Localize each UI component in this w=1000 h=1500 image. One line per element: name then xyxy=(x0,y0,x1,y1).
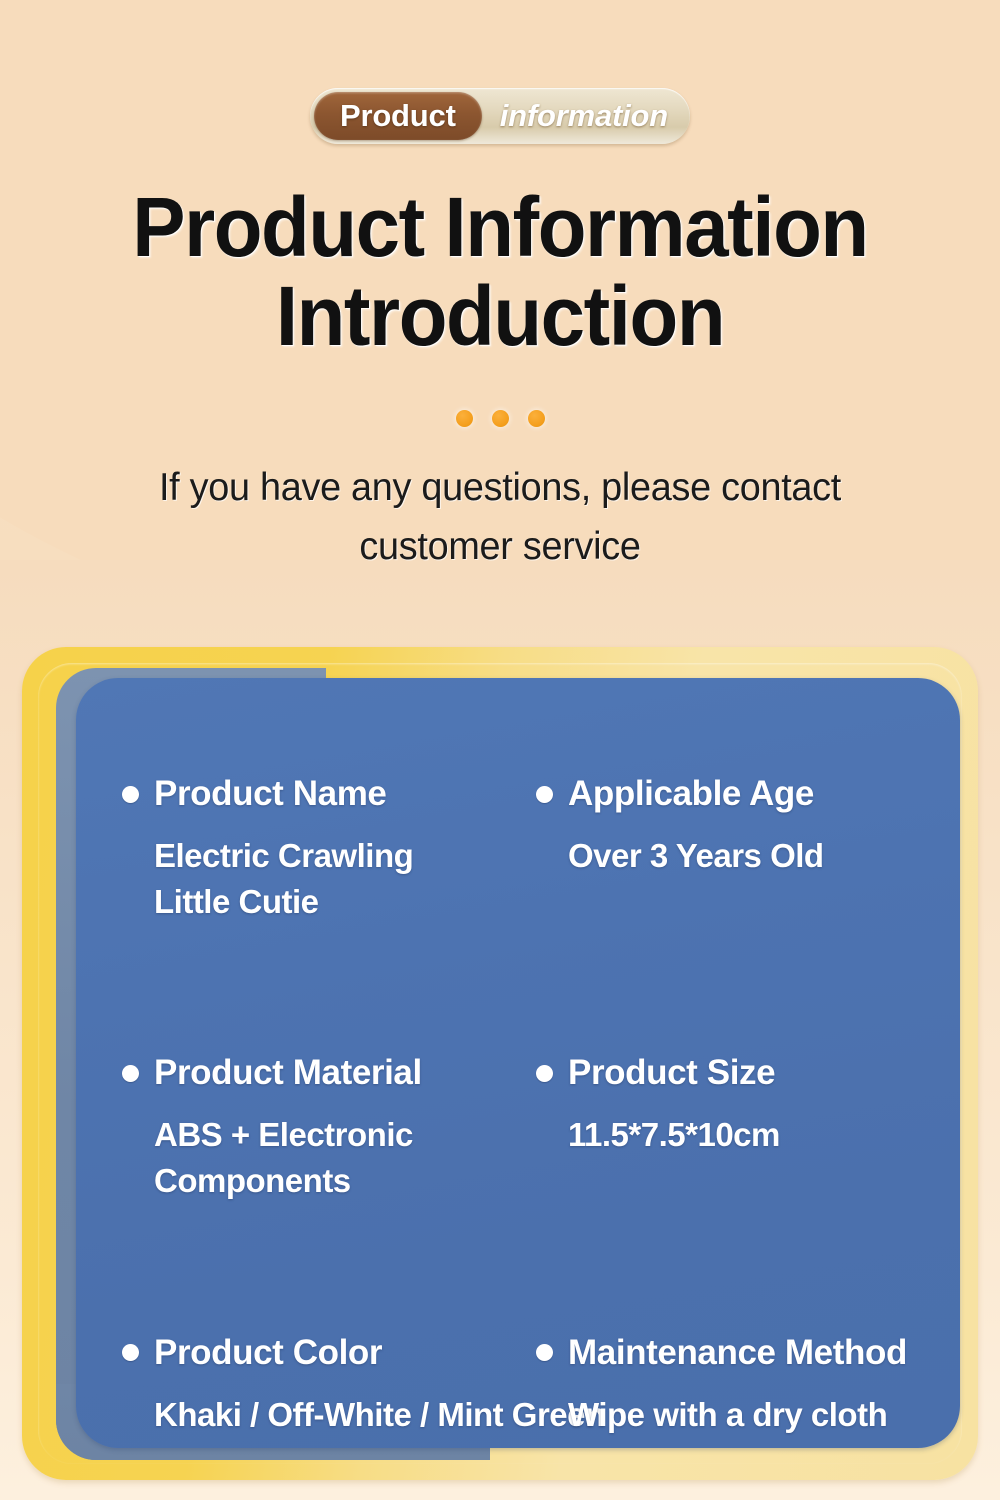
spec-value: 11.5*7.5*10cm xyxy=(568,1112,960,1158)
spec-label-row: Product Size xyxy=(536,1053,960,1093)
spec-card: Product Name Electric Crawling Little Cu… xyxy=(22,640,978,1480)
bullet-dot-icon xyxy=(536,786,553,803)
page-subtitle: If you have any questions, please contac… xyxy=(15,458,985,576)
divider-dot-icon xyxy=(528,410,545,427)
badge-inner-pill: Product xyxy=(314,92,482,140)
page-title: Product Information Introduction xyxy=(25,183,975,361)
spec-label-row: Product Material xyxy=(122,1053,526,1093)
spec-item-maintenance-method: Maintenance Method Wipe with a dry cloth xyxy=(526,1333,960,1448)
spec-item-applicable-age: Applicable Age Over 3 Years Old xyxy=(526,774,960,935)
bullet-dot-icon xyxy=(122,1344,139,1361)
spec-label-row: Applicable Age xyxy=(536,774,960,814)
spec-label: Product Material xyxy=(154,1053,422,1093)
spec-label: Product Color xyxy=(154,1333,382,1373)
spec-label-row: Product Name xyxy=(122,774,526,814)
product-info-page: Product information Product Information … xyxy=(0,0,1000,1500)
page-title-line-1: Product Information xyxy=(25,183,975,272)
spec-item-product-size: Product Size 11.5*7.5*10cm xyxy=(526,1053,960,1214)
divider-dots xyxy=(0,410,1000,427)
badge-suffix-label: information xyxy=(500,98,668,134)
spec-grid: Product Name Electric Crawling Little Cu… xyxy=(76,678,960,1448)
spec-label: Product Name xyxy=(154,774,386,814)
bullet-dot-icon xyxy=(536,1344,553,1361)
bullet-dot-icon xyxy=(536,1065,553,1082)
spec-label-row: Maintenance Method xyxy=(536,1333,960,1373)
page-content: Product information Product Information … xyxy=(0,0,1000,1500)
spec-item-product-color: Product Color Khaki / Off-White / Mint G… xyxy=(76,1333,526,1448)
badge-pill-label: Product xyxy=(340,98,456,134)
spec-label: Applicable Age xyxy=(568,774,814,814)
spec-value: Wipe with a dry cloth xyxy=(568,1392,960,1438)
spec-item-product-material: Product Material ABS + Electronic Compon… xyxy=(76,1053,526,1214)
spec-item-product-name: Product Name Electric Crawling Little Cu… xyxy=(76,774,526,935)
spec-value: Khaki / Off-White / Mint Green xyxy=(154,1392,526,1438)
spec-label-row: Product Color xyxy=(122,1333,526,1373)
page-subtitle-line-1: If you have any questions, please contac… xyxy=(15,458,985,517)
section-badge: Product information xyxy=(0,88,1000,144)
bullet-dot-icon xyxy=(122,786,139,803)
spec-label: Maintenance Method xyxy=(568,1333,907,1373)
bullet-dot-icon xyxy=(122,1065,139,1082)
page-title-line-2: Introduction xyxy=(25,272,975,361)
spec-value: Electric Crawling Little Cutie xyxy=(154,833,484,925)
page-subtitle-line-2: customer service xyxy=(15,517,985,576)
divider-dot-icon xyxy=(456,410,473,427)
spec-value: ABS + Electronic Components xyxy=(154,1112,484,1204)
divider-dot-icon xyxy=(492,410,509,427)
spec-label: Product Size xyxy=(568,1053,775,1093)
badge-outer-pill: Product information xyxy=(310,88,690,144)
spec-value: Over 3 Years Old xyxy=(568,833,960,879)
